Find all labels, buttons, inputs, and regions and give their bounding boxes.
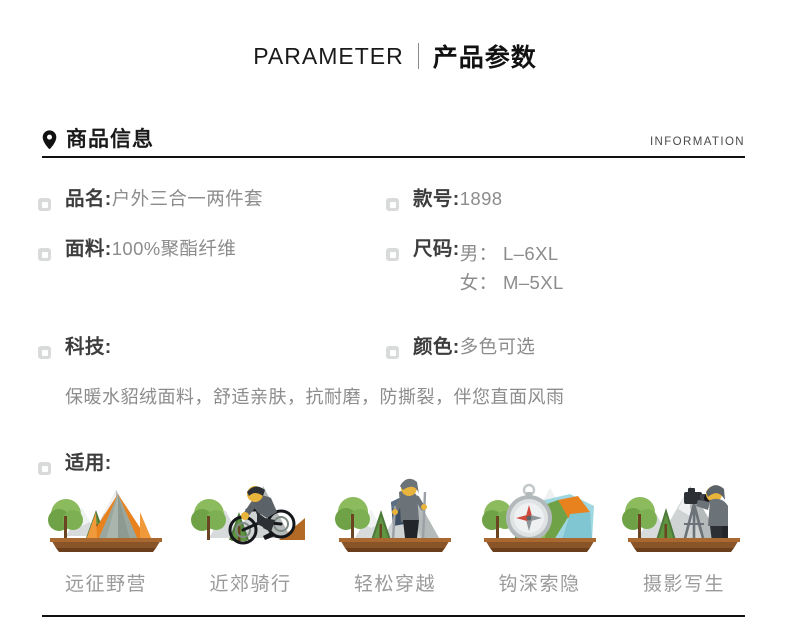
activity-item-cycling: 近郊骑行 [183,462,319,596]
spec-label: 面料: [65,238,112,260]
spacer [38,297,752,338]
mountain-biking-icon [185,462,317,557]
spec-value-multiline: 男： L–6XL女： M–5XL [460,240,564,297]
spec-item-color: 颜色:多色可选 [386,338,752,359]
spec-text: 科技: [65,338,112,358]
spec-label: 尺码: [413,238,460,260]
spec-value-line-women: 女： M–5XL [460,269,564,298]
bullet-icon [38,248,51,261]
spec-label: 款号: [413,188,460,210]
activity-label: 轻松穿越 [354,569,436,596]
activity-label: 摄影写生 [643,569,725,596]
spec-list: 品名:户外三合一两件套 款号:1898 面料:100%聚酯纤维 [38,190,752,475]
spec-row: 面料:100%聚酯纤维 尺码:男： L–6XL女： M–5XL [38,240,752,297]
section-title-chinese: 商品信息 [66,129,154,150]
section-title-english: INFORMATION [650,137,745,151]
compass-explore-icon [474,462,606,557]
spec-text: 尺码:男： L–6XL女： M–5XL [413,240,564,297]
page-title-chinese: 产品参数 [433,38,537,74]
spec-item-product-name: 品名:户外三合一两件套 [38,190,386,211]
bullet-icon [38,198,51,211]
bullet-icon [386,248,399,261]
spec-text: 颜色:多色可选 [413,338,535,358]
spec-label: 颜色: [413,336,460,358]
spec-item-size: 尺码:男： L–6XL女： M–5XL [386,240,752,297]
spec-value: 100%聚酯纤维 [112,238,237,259]
activity-icon-strip: 远征野营 [38,462,752,596]
page-title-english: PARAMETER [253,43,403,70]
activity-item-photography: 摄影写生 [616,462,752,596]
page-title: PARAMETER 产品参数 [0,38,790,74]
spec-text: 品名:户外三合一两件套 [65,190,263,210]
spec-label: 科技: [65,336,112,358]
activity-item-hiking: 轻松穿越 [327,462,463,596]
location-pin-icon [42,130,57,149]
activity-item-exploring: 钩深索隐 [472,462,608,596]
activity-label: 近郊骑行 [209,569,291,596]
spec-item-technology: 科技: [38,338,386,359]
title-divider [418,43,419,69]
spec-value: 1898 [460,188,503,209]
product-parameter-page: PARAMETER 产品参数 商品信息 INFORMATION 品名:户外三合一… [0,0,790,643]
hiking-trekking-icon [329,462,461,557]
spec-text: 款号:1898 [413,190,502,210]
bullet-icon [38,346,51,359]
spec-value-line-men: 男： L–6XL [460,240,564,269]
spec-text: 面料:100%聚酯纤维 [65,240,236,260]
bullet-icon [386,198,399,211]
activity-item-camping: 远征野营 [38,462,174,596]
photography-icon [618,462,750,557]
spec-item-fabric: 面料:100%聚酯纤维 [38,240,386,297]
bottom-divider [42,615,745,617]
section-header-product-info: 商品信息 INFORMATION [42,112,745,158]
spec-value: 多色可选 [460,336,536,357]
activity-label: 钩深索隐 [498,569,580,596]
spec-label: 品名: [65,188,112,210]
spec-value: 户外三合一两件套 [112,188,263,209]
section-header-left: 商品信息 [42,129,154,150]
spacer [38,211,752,240]
camping-tent-icon [40,462,172,557]
bullet-icon [386,346,399,359]
activity-label: 远征野营 [65,569,147,596]
spec-item-model-number: 款号:1898 [386,190,752,211]
technology-description: 保暖水貂绒面料，舒适亲肤，抗耐磨，防撕裂，伴您直面风雨 [65,383,752,409]
spec-row: 科技: 颜色:多色可选 [38,338,752,359]
spec-row: 品名:户外三合一两件套 款号:1898 [38,190,752,211]
